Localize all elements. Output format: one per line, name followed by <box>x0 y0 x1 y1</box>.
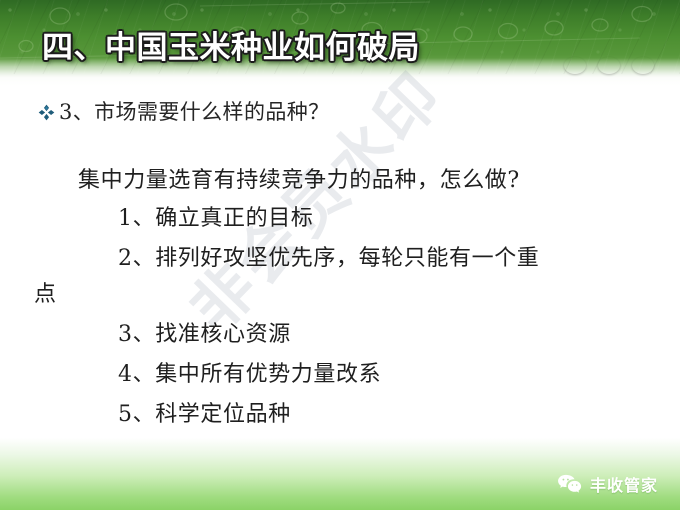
slide-content: 3、市场需要什么样的品种？ 集中力量选育有持续竞争力的品种，怎么做? 1、确立真… <box>0 88 680 438</box>
diamond-cluster-bullet-icon <box>38 104 55 121</box>
body-question: 集中力量选育有持续竞争力的品种，怎么做? <box>78 162 520 194</box>
body-list-item-5: 5、科学定位品种 <box>118 396 291 428</box>
section-heading-label: 3、市场需要什么样的品种？ <box>59 96 330 126</box>
banner-dot-group <box>564 57 654 74</box>
banner-dot-2 <box>598 57 620 74</box>
header-banner: 四、中国玉米种业如何破局 <box>0 0 680 88</box>
body-list-item-1: 1、确立真正的目标 <box>118 200 313 232</box>
body-list-item-4: 4、集中所有优势力量改系 <box>118 356 381 388</box>
footer-brand-label: 丰收管家 <box>590 472 658 496</box>
body-list-item-3: 3、找准核心资源 <box>118 316 291 348</box>
page-title: 四、中国玉米种业如何破局 <box>42 22 420 67</box>
section-heading: 3、市场需要什么样的品种？ <box>38 96 330 126</box>
body-list-item-2: 2、排列好攻坚优先序，每轮只能有一个重 <box>118 240 539 272</box>
slide-canvas: 四、中国玉米种业如何破局 非会员水印 3、市场需要什么 <box>0 0 680 510</box>
body-list-item-2-wrap: 点 <box>34 276 57 308</box>
footer-brand: 丰收管家 <box>557 472 658 496</box>
wechat-icon <box>557 473 583 495</box>
banner-dot-1 <box>564 57 586 74</box>
banner-dot-3 <box>632 57 654 74</box>
